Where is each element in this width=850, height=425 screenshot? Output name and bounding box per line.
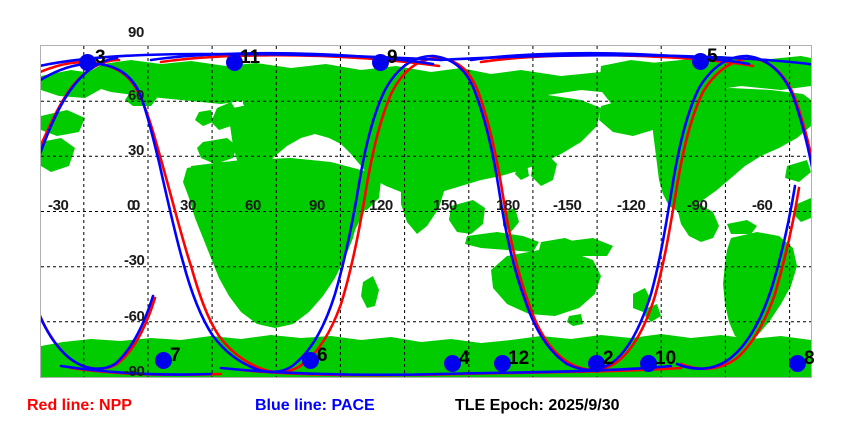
lon-label-90: 90 [309,198,325,213]
lon-label-150: 150 [433,198,457,213]
pass-marker-label-3: 3 [95,48,106,67]
lon-label--150: -150 [553,198,581,213]
lat-label--30: -30 [124,253,144,268]
lon-label-120: 120 [369,198,393,213]
legend-pace: Blue line: PACE [255,398,375,414]
lat-label-90: 90 [128,25,144,40]
pass-marker-label-4: 4 [459,349,470,368]
pass-marker-label-10: 10 [655,349,676,368]
pass-marker-label-9: 9 [387,48,398,67]
pass-marker-label-11: 11 [240,48,260,67]
lat-label-60: 60 [128,88,144,103]
lon-label--120: -120 [617,198,645,213]
lon-label-60: 60 [245,198,261,213]
pass-marker-3[interactable] [79,54,96,71]
lat-label--90: -90 [124,364,144,379]
pass-marker-label-6: 6 [317,346,328,365]
lat-label--60: -60 [124,309,144,324]
lat-label-30: 30 [128,143,144,158]
legend-npp: Red line: NPP [27,398,132,414]
lon-label--90: -90 [687,198,707,213]
pass-marker-label-12: 12 [508,349,529,368]
lat-label-0: 0 [132,198,140,213]
lon-label-30: 30 [180,198,196,213]
lon-label--30: -30 [48,198,68,213]
pass-marker-label-5: 5 [707,47,718,66]
pass-marker-label-7: 7 [170,346,181,365]
pass-marker-label-8: 8 [804,349,815,368]
satellite-ground-track-figure: -30 0 30 60 90 120 150 180 -150 -120 -90… [0,0,850,425]
pass-marker-label-2: 2 [603,349,614,368]
lon-label--60: -60 [752,198,772,213]
legend-tle-epoch: TLE Epoch: 2025/9/30 [455,398,620,414]
lon-label-180: 180 [496,198,520,213]
